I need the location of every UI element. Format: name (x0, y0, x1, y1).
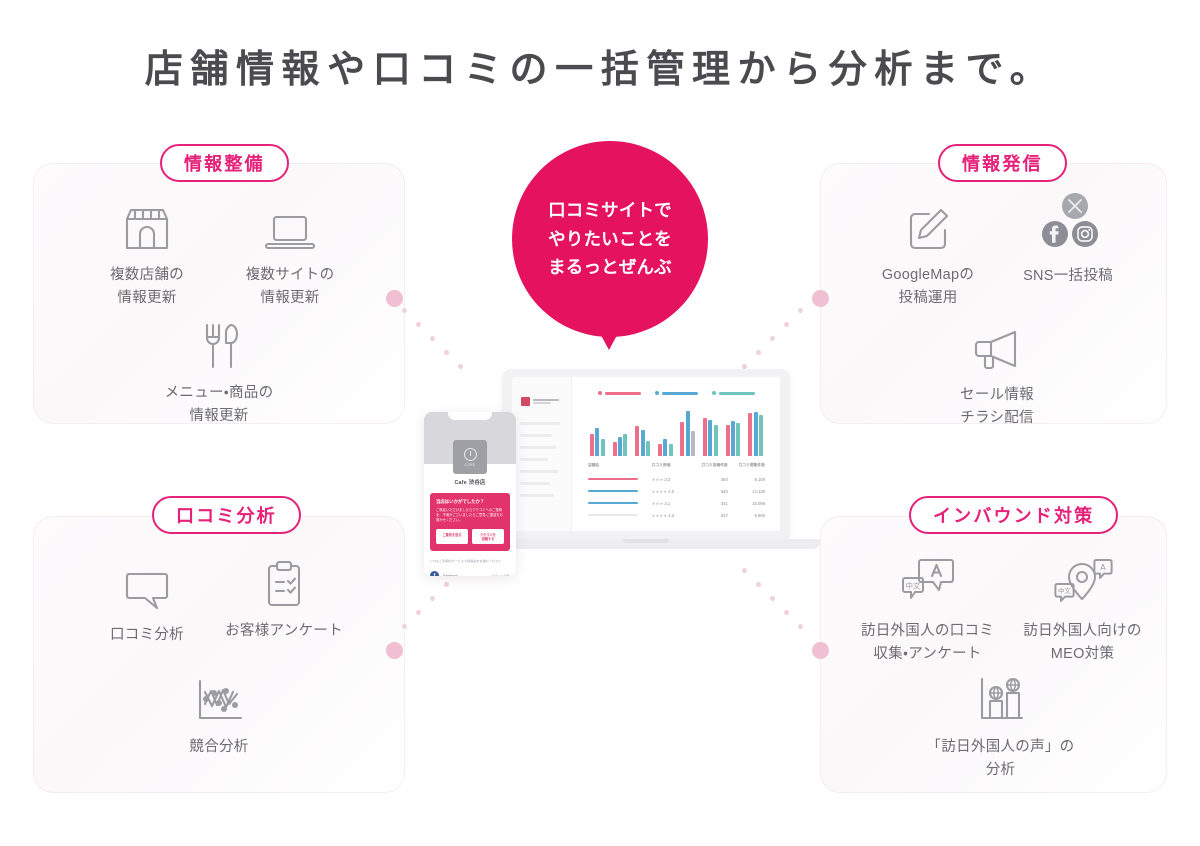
item-multi-site-update: 複数サイトの 情報更新 (215, 200, 365, 311)
bubble-line-2: やりたいことを (548, 225, 672, 253)
table-header-row: 店舗名 口コミ評価 口コミ投稿件数 口コミ閲覧件数 (582, 463, 771, 468)
laptop-screen: 店舗名 口コミ評価 口コミ投稿件数 口コミ閲覧件数 ★★★ 3.3 450 8,… (512, 377, 780, 531)
bar-group (703, 418, 718, 456)
device-mockup: 店舗名 口コミ評価 口コミ投稿件数 口コミ閲覧件数 ★★★ 3.3 450 8,… (424, 366, 796, 576)
badge-inbound-measures: インバウンド対策 (909, 496, 1118, 534)
legend-item (655, 391, 698, 395)
logo-label: CORE (465, 463, 476, 467)
item-label: 情報更新 (72, 287, 222, 310)
megaphone-icon (922, 320, 1072, 372)
scatter-chart-icon (144, 672, 294, 724)
dashboard-logo (521, 397, 559, 406)
rating-value: 3.1 (664, 501, 670, 506)
bubble-line-3: まるっとぜんぶ (548, 253, 672, 281)
badge-info-publishing: 情報発信 (938, 144, 1067, 182)
list-item[interactable]: f Facebook クチコミ投稿 (430, 567, 510, 576)
item-label: メニュー・商品の (144, 382, 294, 405)
badge-review-analysis: 口コミ分析 (152, 496, 301, 534)
phone-network-list: f Facebook クチコミ投稿 ✕ X クチコミ投稿 (430, 567, 510, 576)
item-competitor-analysis: 競合分析 (144, 672, 294, 759)
svg-text:中文: 中文 (1058, 586, 1071, 595)
sns-cluster-icon (993, 193, 1143, 253)
item-label: 収集・アンケート (845, 643, 1010, 666)
item-label: お客様アンケート (209, 620, 359, 643)
item-label: 情報更新 (215, 287, 365, 310)
item-label: 口コミ分析 (72, 624, 222, 647)
bar-group (590, 428, 605, 456)
phone-shop-name: Cafe 渋谷店 (424, 478, 516, 486)
item-label: 投稿運用 (853, 287, 1003, 310)
facebook-icon: f (430, 571, 439, 576)
item-sns-bulk-post: SNS一括投稿 (993, 193, 1143, 288)
item-sale-flyer: セール情報 チラシ配信 (922, 320, 1072, 431)
svg-text:中文: 中文 (905, 581, 920, 591)
shop-review-table: 店舗名 口コミ評価 口コミ投稿件数 口コミ閲覧件数 ★★★ 3.3 450 8,… (582, 463, 771, 521)
rating-value: 4.0 (668, 489, 674, 494)
clipboard-checklist-icon (209, 556, 359, 608)
item-googlemap-posting: GoogleMapの 投稿運用 (853, 200, 1003, 311)
dashboard-nav[interactable] (520, 422, 560, 497)
laptop-icon (215, 200, 365, 252)
table-row: ★★★ 3.3 450 8,159 (582, 473, 771, 485)
item-label: 訪日外国人の口コミ (845, 620, 1010, 643)
legend-item (712, 391, 755, 395)
item-customer-survey: お客様アンケート (209, 556, 359, 643)
phone-survey-card: 当店はいかがでしたか？ ご満足いただけましたらクチコミへのご投稿を、不満がござい… (430, 493, 510, 551)
logo-mark (521, 397, 530, 406)
laptop-base (471, 539, 821, 549)
views-count: 15,098 (728, 501, 765, 506)
item-label: GoogleMapの (853, 264, 1003, 287)
clock-icon (464, 448, 477, 461)
map-pin-translation-icon: A 中文 (1000, 556, 1165, 608)
item-label: 複数サイトの (215, 264, 365, 287)
bar-group (613, 434, 628, 456)
rating-stars: ★★★★ (652, 513, 668, 518)
phone-list-note: いつもご利用のサービスで投稿先をお選びください (430, 558, 510, 563)
item-meo-for-foreigners: A 中文 訪日外国人向けの MEO対策 (1000, 556, 1165, 667)
bar-group (680, 411, 695, 456)
bar-group (748, 412, 763, 456)
item-foreign-voice-analysis: 「訪日外国人の声」の 分析 (918, 672, 1083, 783)
logo-wordmark (533, 399, 559, 405)
item-menu-product-update: メニュー・商品の 情報更新 (144, 318, 294, 429)
bubble-line-1: 口コミサイトで (548, 196, 672, 224)
survey-description: ご満足いただけましたらクチコミへのご投稿を、不満がございましたらご意見・ご要望を… (436, 508, 504, 523)
center-bubble: 口コミサイトで やりたいことを まるっとぜんぶ (512, 141, 708, 337)
posts-count: 450 (691, 477, 728, 482)
instagram-icon (1072, 221, 1098, 247)
item-label: 「訪日外国人の声」の (918, 736, 1083, 759)
infographic-stage: 店舗情報や口コミの一括管理から分析まで。 情報整備 (0, 0, 1200, 846)
posts-count: 640 (691, 489, 728, 494)
send-feedback-button[interactable]: ご意見を送る (436, 529, 468, 544)
col-header-views: 口コミ閲覧件数 (728, 463, 765, 468)
item-label: 競合分析 (144, 736, 294, 759)
item-label: MEO対策 (1000, 643, 1165, 666)
dashboard-main: 店舗名 口コミ評価 口コミ投稿件数 口コミ閲覧件数 ★★★ 3.3 450 8,… (573, 377, 780, 531)
bar-chart (582, 404, 771, 456)
col-header-shop: 店舗名 (588, 463, 652, 468)
facebook-icon (1042, 221, 1068, 247)
item-review-analysis: 口コミ分析 (72, 560, 222, 647)
globe-bar-chart-icon (918, 672, 1083, 724)
chat-bubble-icon (72, 560, 222, 612)
item-label: チラシ配信 (922, 407, 1072, 430)
posts-count: 637 (691, 513, 728, 518)
svg-text:A: A (1100, 563, 1106, 572)
network-name: Facebook (443, 574, 487, 576)
page-title: 店舗情報や口コミの一括管理から分析まで。 (0, 38, 1200, 93)
item-foreign-reviews: 中文 訪日外国人の口コミ 収集・アンケート (845, 556, 1010, 667)
x-icon (1062, 193, 1088, 219)
fork-knife-icon (144, 318, 294, 370)
bar-group (726, 421, 741, 456)
item-label: セール情報 (922, 384, 1072, 407)
item-label: 分析 (918, 759, 1083, 782)
table-row: ★★★★ 4.0 640 13,138 (582, 485, 771, 497)
storefront-icon (72, 200, 222, 252)
col-header-posts: 口コミ投稿件数 (691, 463, 728, 468)
rating-stars: ★★★ (652, 477, 664, 482)
item-multi-store-update: 複数店舗の 情報更新 (72, 200, 222, 311)
posts-count: 341 (691, 501, 728, 506)
phone-mockup: CORE Cafe 渋谷店 当店はいかがでしたか？ ご満足いただけましたらクチコ… (424, 412, 516, 576)
badge-info-maintenance: 情報整備 (160, 144, 289, 182)
chart-legend (582, 391, 771, 395)
rating-value: 3.3 (664, 477, 670, 482)
rating-value: 4.3 (668, 513, 674, 518)
item-label: 複数店舗の (72, 264, 222, 287)
views-count: 8,159 (728, 477, 765, 482)
bar-group (658, 439, 673, 456)
col-header-rating: 口コミ評価 (652, 463, 691, 468)
rating-stars: ★★★★ (652, 489, 668, 494)
dashboard-sidebar (512, 377, 572, 531)
survey-question: 当店はいかがでしたか？ (436, 499, 504, 505)
rating-stars: ★★★ (652, 501, 664, 506)
item-label: 情報更新 (144, 405, 294, 428)
views-count: 13,138 (728, 489, 765, 494)
table-row: ★★★ 3.1 341 15,098 (582, 497, 771, 509)
bar-group (635, 426, 650, 456)
legend-item (598, 391, 641, 395)
post-review-button[interactable]: クチコミを 投稿する (472, 529, 504, 544)
table-row: ★★★★ 4.3 637 9,906 (582, 509, 771, 521)
phone-app-logo: CORE (453, 440, 487, 474)
item-label: 訪日外国人向けの (1000, 620, 1165, 643)
views-count: 9,906 (728, 513, 765, 518)
network-action: クチコミ投稿 (491, 573, 510, 576)
item-label: SNS一括投稿 (993, 265, 1143, 288)
translation-bubbles-icon: 中文 (845, 556, 1010, 608)
pencil-square-icon (853, 200, 1003, 252)
